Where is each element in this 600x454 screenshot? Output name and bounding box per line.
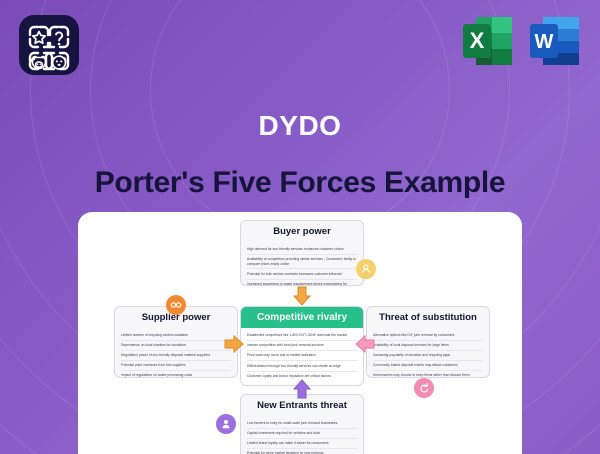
force-item: Increased awareness of waste management … [247, 279, 357, 286]
force-box-competitive-rivalry[interactable]: Competitive rivalry Established competit… [240, 306, 364, 386]
force-list-supplier-power: Limited number of recycling centers avai… [115, 327, 237, 378]
arrow-supplier-to-rivalry [224, 334, 244, 354]
force-title-threat-of-substitution: Threat of substitution [367, 307, 489, 327]
force-item: Community-based disposal events may attr… [373, 360, 483, 370]
force-list-competitive-rivalry: Established competitors like 1-800-GOT-J… [241, 328, 363, 385]
porters-five-forces-diagram: Buyer power High demand for eco-friendly… [78, 212, 522, 454]
force-item: Capital investment required for vehicles… [247, 428, 357, 438]
force-title-buyer-power: Buyer power [241, 221, 363, 241]
force-box-supplier-power[interactable]: Supplier power Limited number of recycli… [114, 306, 238, 378]
force-item: Dependence on local charities for donati… [121, 340, 231, 350]
force-item: Price wars may occur due to market satur… [247, 350, 357, 360]
svg-text:X: X [470, 28, 485, 53]
svg-text:W: W [535, 31, 554, 53]
pet-quiz-grid-logo-icon [18, 14, 80, 76]
excel-icon[interactable]: X [459, 12, 517, 70]
force-item: Availability of competitors providing si… [247, 254, 357, 269]
force-item: High demand for eco-friendly services en… [247, 244, 357, 253]
force-box-buyer-power[interactable]: Buyer power High demand for eco-friendly… [240, 220, 364, 286]
force-item: Differentiation through eco-friendly ser… [247, 360, 357, 370]
force-item: Limited brand loyalty can make it easier… [247, 438, 357, 448]
force-item: Increasing popularity of donation and re… [373, 350, 483, 360]
force-item: Availability of local disposal services … [373, 340, 483, 350]
force-list-new-entrants-threat: Low barriers to entry for small-scale ju… [241, 415, 363, 454]
recycle-icon [418, 382, 430, 394]
page-title: Porter's Five Forces Example [0, 166, 600, 200]
arrow-entrants-to-rivalry [292, 379, 312, 399]
slide-canvas: X W DYDO Porter's Five Forces Example Bu… [0, 0, 600, 454]
force-item: Low barriers to entry for small-scale ju… [247, 418, 357, 427]
force-item: Homeowners may choose to keep items rath… [373, 370, 483, 378]
substitution-badge[interactable] [414, 378, 434, 398]
force-item: Potential for bulk service contracts inc… [247, 268, 357, 278]
person-icon [220, 418, 232, 430]
office-icons-group: X W [459, 12, 584, 70]
new-entrants-badge[interactable] [216, 414, 236, 434]
force-box-threat-of-substitution[interactable]: Threat of substitution Alternative optio… [366, 306, 490, 378]
force-list-threat-of-substitution: Alternative options like DIY junk remova… [367, 327, 489, 378]
force-item: Potential price increases from fuel supp… [121, 360, 231, 370]
customer-icon [360, 263, 372, 275]
buyer-power-badge[interactable] [356, 259, 376, 279]
force-item: Intense competition with local junk remo… [247, 340, 357, 350]
word-icon[interactable]: W [526, 12, 584, 70]
force-title-competitive-rivalry: Competitive rivalry [241, 307, 363, 328]
force-item: Limited number of recycling centers avai… [121, 330, 231, 339]
force-item: Established competitors like 1-800-GOT-J… [247, 331, 357, 340]
supplier-power-badge[interactable] [166, 295, 186, 315]
force-item: Alternative options like DIY junk remova… [373, 330, 483, 339]
diagram-card: Buyer power High demand for eco-friendly… [78, 212, 522, 454]
force-box-new-entrants-threat[interactable]: New Entrants threat Low barriers to entr… [240, 394, 364, 454]
force-item: Potential for niche market targeting by … [247, 448, 357, 454]
force-item: Impact of regulations on waste processin… [121, 370, 231, 378]
arrow-substitute-to-rivalry [355, 334, 375, 354]
force-item: Negotiation power of eco-friendly dispos… [121, 350, 231, 360]
force-list-buyer-power: High demand for eco-friendly services en… [241, 241, 363, 286]
arrow-buyer-to-rivalry [292, 286, 312, 306]
brand-name: DYDO [0, 110, 600, 142]
link-icon [170, 299, 182, 311]
